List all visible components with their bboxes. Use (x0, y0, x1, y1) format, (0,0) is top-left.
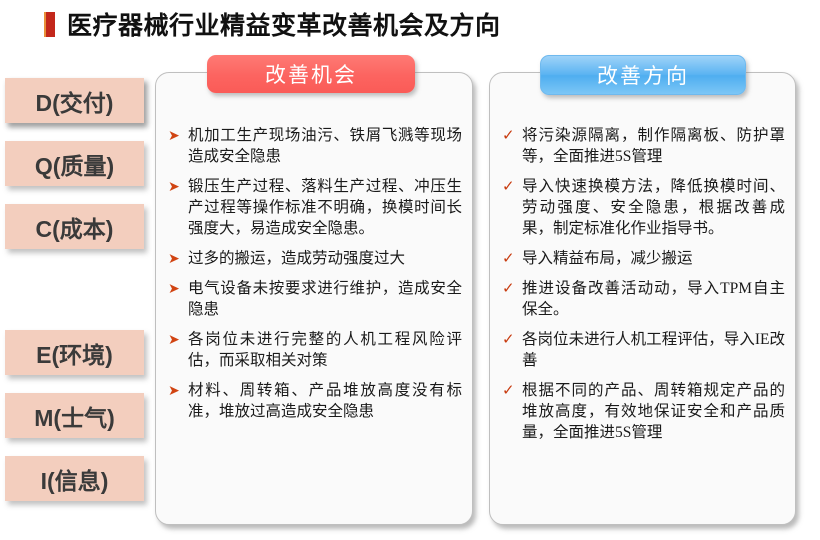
sidebar-item-label: I(信息) (41, 462, 109, 496)
opportunities-list-body: ➤机加工生产现场油污、铁屑飞溅等现场造成安全隐患 ➤锻压生产过程、落料生产过程、… (156, 125, 472, 518)
list-item: ✓将污染源隔离，制作隔离板、防护罩等，全面推进5S管理 (502, 125, 785, 167)
sidebar-item-label: M(士气) (34, 399, 114, 433)
page-title-row: 医疗器械行业精益变革改善机会及方向 (0, 6, 820, 42)
list-item-text: 各岗位未进行完整的人机工程风险评估，而采取相关对策 (188, 329, 462, 371)
sidebar-item-delivery[interactable]: D(交付) (5, 78, 144, 123)
opportunities-header-pill: 改善机会 (207, 55, 415, 93)
check-mark-icon: ✓ (502, 278, 522, 299)
directions-list-body: ✓将污染源隔离，制作隔离板、防护罩等，全面推进5S管理 ✓导入快速换模方法，降低… (490, 125, 795, 518)
arrow-right-icon: ➤ (168, 329, 188, 350)
list-item: ➤各岗位未进行完整的人机工程风险评估，而采取相关对策 (168, 329, 462, 371)
list-item-text: 导入精益布局，减少搬运 (522, 248, 785, 269)
sidebar-item-label: Q(质量) (35, 147, 114, 181)
arrow-right-icon: ➤ (168, 380, 188, 401)
list-item: ➤材料、周转箱、产品堆放高度没有标准，堆放过高造成安全隐患 (168, 380, 462, 422)
arrow-right-icon: ➤ (168, 248, 188, 269)
list-item: ✓推进设备改善活动动，导入TPM自主保全。 (502, 278, 785, 320)
check-mark-icon: ✓ (502, 248, 522, 269)
sqcdemi-sidebar: S(安全) Q(质量) C(成本) D(交付) E(环境) M(士气) I(信息… (5, 78, 144, 518)
list-item-text: 推进设备改善活动动，导入TPM自主保全。 (522, 278, 785, 320)
list-item-text: 各岗位未进行人机工程评估，导入IE改善 (522, 329, 785, 371)
list-item: ✓导入快速换模方法，降低换模时间、劳动强度、安全隐患，根据改善成果，制定标准化作… (502, 176, 785, 239)
check-mark-icon: ✓ (502, 380, 522, 401)
directions-header-pill: 改善方向 (540, 55, 746, 95)
arrow-right-icon: ➤ (168, 278, 188, 299)
sidebar-item-label: D(交付) (36, 84, 114, 118)
sidebar-item-environment[interactable]: E(环境) (5, 330, 144, 375)
opportunities-list: ➤机加工生产现场油污、铁屑飞溅等现场造成安全隐患 ➤锻压生产过程、落料生产过程、… (168, 125, 462, 422)
list-item: ✓根据不同的产品、周转箱规定产品的堆放高度，有效地保证安全和产品质量，全面推进5… (502, 380, 785, 443)
list-item-text: 锻压生产过程、落料生产过程、冲压生产过程等操作标准不明确，换模时间长强度大，易造… (188, 176, 462, 239)
title-marker-icon (44, 12, 55, 37)
list-item: ➤过多的搬运，造成劳动强度过大 (168, 248, 462, 269)
page-title: 医疗器械行业精益变革改善机会及方向 (67, 6, 501, 42)
arrow-right-icon: ➤ (168, 176, 188, 197)
list-item-text: 机加工生产现场油污、铁屑飞溅等现场造成安全隐患 (188, 125, 462, 167)
list-item: ➤锻压生产过程、落料生产过程、冲压生产过程等操作标准不明确，换模时间长强度大，易… (168, 176, 462, 239)
sidebar-item-label: C(成本) (36, 210, 114, 244)
list-item-text: 根据不同的产品、周转箱规定产品的堆放高度，有效地保证安全和产品质量，全面推进5S… (522, 380, 785, 443)
check-mark-icon: ✓ (502, 176, 522, 197)
sidebar-item-cost[interactable]: C(成本) (5, 204, 144, 249)
directions-list: ✓将污染源隔离，制作隔离板、防护罩等，全面推进5S管理 ✓导入快速换模方法，降低… (502, 125, 785, 443)
list-item: ✓各岗位未进行人机工程评估，导入IE改善 (502, 329, 785, 371)
list-item: ✓导入精益布局，减少搬运 (502, 248, 785, 269)
arrow-right-icon: ➤ (168, 125, 188, 146)
list-item-text: 过多的搬运，造成劳动强度过大 (188, 248, 462, 269)
sidebar-item-label: E(环境) (36, 336, 113, 370)
list-item-text: 电气设备未按要求进行维护，造成安全隐患 (188, 278, 462, 320)
check-mark-icon: ✓ (502, 125, 522, 146)
list-item-text: 将污染源隔离，制作隔离板、防护罩等，全面推进5S管理 (522, 125, 785, 167)
improvement-opportunities-panel: ➤机加工生产现场油污、铁屑飞溅等现场造成安全隐患 ➤锻压生产过程、落料生产过程、… (155, 72, 473, 525)
improvement-directions-panel: ✓将污染源隔离，制作隔离板、防护罩等，全面推进5S管理 ✓导入快速换模方法，降低… (489, 72, 796, 525)
check-mark-icon: ✓ (502, 329, 522, 350)
list-item: ➤机加工生产现场油污、铁屑飞溅等现场造成安全隐患 (168, 125, 462, 167)
list-item-text: 导入快速换模方法，降低换模时间、劳动强度、安全隐患，根据改善成果，制定标准化作业… (522, 176, 785, 239)
list-item-text: 材料、周转箱、产品堆放高度没有标准，堆放过高造成安全隐患 (188, 380, 462, 422)
sidebar-item-information[interactable]: I(信息) (5, 456, 144, 501)
list-item: ➤电气设备未按要求进行维护，造成安全隐患 (168, 278, 462, 320)
sidebar-item-quality[interactable]: Q(质量) (5, 141, 144, 186)
sidebar-item-morale[interactable]: M(士气) (5, 393, 144, 438)
